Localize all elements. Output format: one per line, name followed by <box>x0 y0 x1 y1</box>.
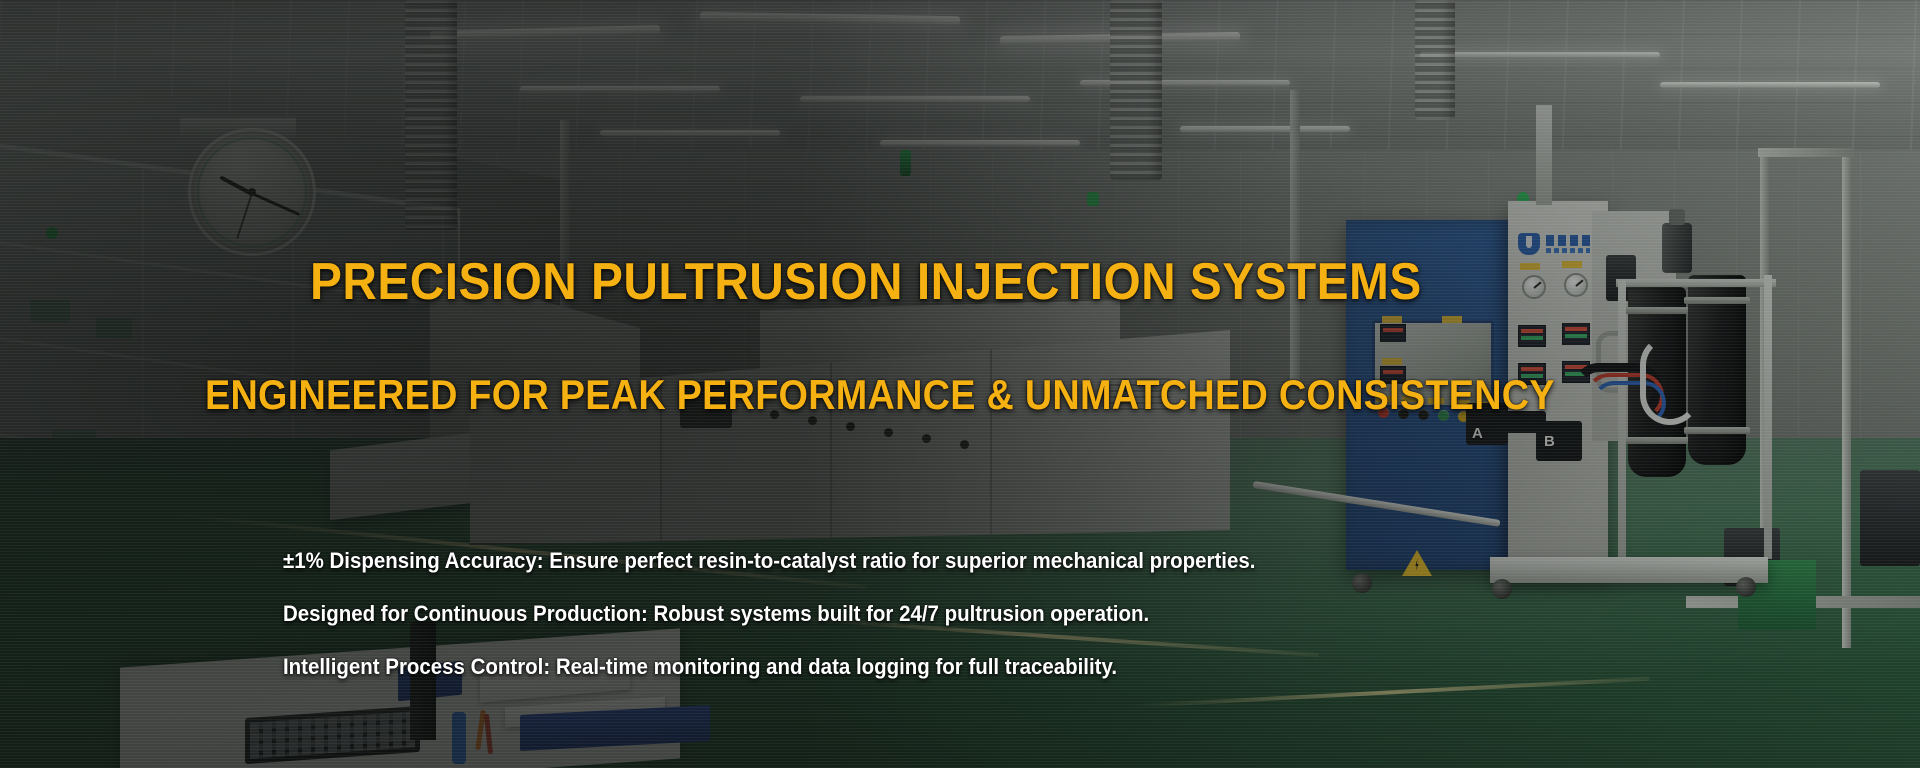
feature-item: ±1% Dispensing Accuracy: Ensure perfect … <box>283 550 1306 572</box>
feature-item: Intelligent Process Control: Real-time m… <box>283 656 1306 678</box>
feature-item: Designed for Continuous Production: Robu… <box>283 603 1306 625</box>
hero-banner: A B PRECISION PULTRUSION INJECTION SYSTE… <box>0 0 1920 768</box>
banner-headline: PRECISION PULTRUSION INJECTION SYSTEMS <box>310 256 1422 308</box>
banner-subheadline: ENGINEERED FOR PEAK PERFORMANCE & UNMATC… <box>205 374 1555 416</box>
banner-content: PRECISION PULTRUSION INJECTION SYSTEMS E… <box>0 0 1920 768</box>
banner-feature-list: ±1% Dispensing Accuracy: Ensure perfect … <box>283 550 1383 709</box>
